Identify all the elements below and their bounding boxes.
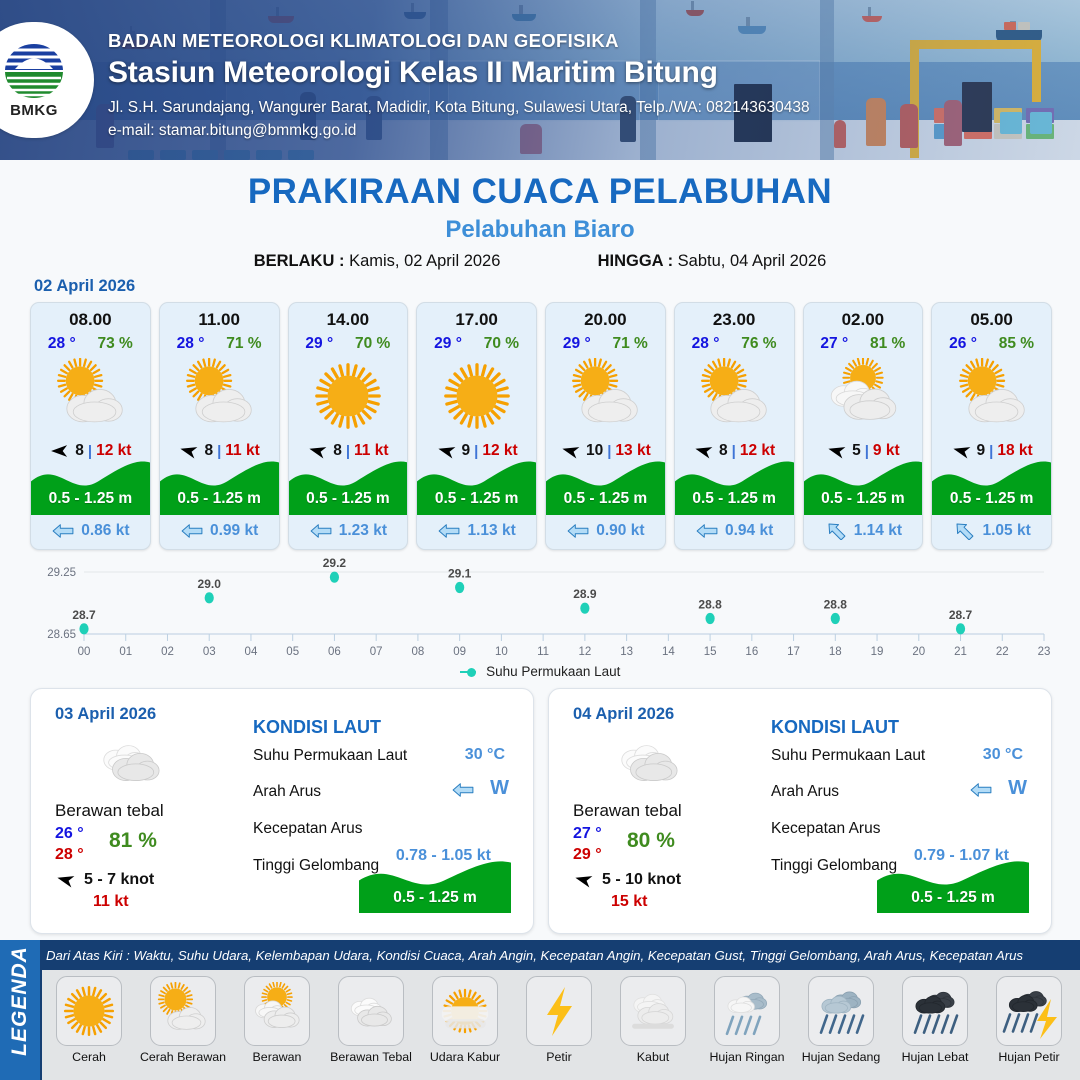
legend-item: Hujan Sedang [794, 970, 888, 1080]
daily-panel-row: 03 April 2026 Berawan tebal 26 ° 28 ° 81… [30, 688, 1052, 932]
card-temperature: 29 ° [434, 335, 462, 353]
daily-forecast-panel: 04 April 2026 Berawan tebal 27 ° 29 ° 80… [548, 688, 1052, 934]
card-wave-height: 0.5 - 1.25 m [546, 490, 665, 508]
card-time: 11.00 [160, 310, 279, 330]
svg-text:12: 12 [578, 646, 591, 658]
svg-text:01: 01 [119, 646, 132, 658]
panel-wind-row: 5 - 7 knot [55, 871, 154, 889]
card-wave-height: 0.5 - 1.25 m [417, 490, 536, 508]
card-current: 1.23 kt [289, 518, 408, 544]
weather-sun-cloud-icon [932, 357, 1051, 435]
sea-condition-title: KONDISI LAUT [253, 717, 381, 738]
current-direction-arrow-icon [824, 522, 848, 540]
forecast-card: 11.00 28 ° 71 % 8 | 11 kt 0.5 - 1.25 m 0… [159, 302, 280, 550]
svg-text:04: 04 [245, 646, 258, 658]
panel-temp-max: 28 ° [55, 846, 84, 864]
current-speed-label: Kecepatan Arus [253, 820, 362, 838]
card-wave-height: 0.5 - 1.25 m [675, 490, 794, 508]
svg-text:02: 02 [161, 646, 174, 658]
forecast-card: 20.00 29 ° 71 % 10 | 13 kt 0.5 - 1.25 m … [545, 302, 666, 550]
svg-text:28.65: 28.65 [47, 629, 76, 641]
weather-fog-icon [620, 976, 686, 1046]
panel-wind-row: 5 - 10 knot [573, 871, 681, 889]
card-temperature: 29 ° [305, 335, 333, 353]
page-title: PRAKIRAAN CUACA PELABUHAN [0, 172, 1080, 212]
card-current-speed: 0.86 kt [81, 522, 129, 540]
panel-wind: 5 - 7 knot [84, 871, 154, 889]
card-time: 05.00 [932, 310, 1051, 330]
weather-rain-heavy-icon [902, 976, 968, 1046]
weather-cloudy-icon [91, 733, 171, 791]
legend-item: Cerah [42, 970, 136, 1080]
sst-value: 30 °C [983, 746, 1023, 764]
svg-text:16: 16 [745, 646, 758, 658]
weather-sun-icon [417, 357, 536, 435]
card-humidity: 81 % [870, 335, 905, 353]
current-direction-arrow-icon [566, 522, 590, 540]
current-direction-arrow-icon [180, 522, 204, 540]
current-direction-value: W [1008, 777, 1027, 800]
svg-text:03: 03 [203, 646, 216, 658]
page-header: BMKG BADAN METEOROLOGI KLIMATOLOGI DAN G… [0, 0, 1080, 160]
card-time: 02.00 [804, 310, 923, 330]
legend-note: Dari Atas Kiri : Waktu, Suhu Udara, Kele… [46, 948, 1072, 963]
svg-text:06: 06 [328, 646, 341, 658]
chart-legend-label: Suhu Permukaan Laut [486, 664, 620, 679]
card-time: 08.00 [31, 310, 150, 330]
weather-rain-light-icon [714, 976, 780, 1046]
legend-item-label: Petir [546, 1050, 571, 1064]
svg-text:05: 05 [286, 646, 299, 658]
forecast-card: 23.00 28 ° 76 % 8 | 12 kt 0.5 - 1.25 m 0… [674, 302, 795, 550]
card-current: 0.86 kt [31, 518, 150, 544]
current-direction-arrow-icon [952, 522, 976, 540]
svg-text:28.7: 28.7 [72, 608, 96, 622]
legend-item-label: Hujan Ringan [709, 1050, 784, 1064]
card-current: 1.13 kt [417, 518, 536, 544]
card-current: 0.94 kt [675, 518, 794, 544]
weather-sun-icon [289, 357, 408, 435]
svg-text:13: 13 [620, 646, 633, 658]
svg-text:21: 21 [954, 646, 967, 658]
agency-name: BADAN METEOROLOGI KLIMATOLOGI DAN GEOFIS… [108, 30, 810, 52]
legend-item-label: Udara Kabur [430, 1050, 500, 1064]
card-temperature: 28 ° [177, 335, 205, 353]
legend-item: Berawan [230, 970, 324, 1080]
current-direction-arrow-icon [969, 781, 993, 804]
svg-text:28.9: 28.9 [573, 587, 597, 601]
legend-item: Kabut [606, 970, 700, 1080]
current-direction-arrow-icon [437, 522, 461, 540]
wind-direction-arrow-icon [573, 872, 595, 888]
card-current: 0.90 kt [546, 518, 665, 544]
svg-text:14: 14 [662, 646, 675, 658]
svg-text:08: 08 [412, 646, 425, 658]
legend-item: Cerah Berawan [136, 970, 230, 1080]
weather-haze-icon [432, 976, 498, 1046]
card-current-speed: 1.13 kt [467, 522, 515, 540]
card-wave-height: 0.5 - 1.25 m [31, 490, 150, 508]
card-current: 1.14 kt [804, 518, 923, 544]
svg-text:28.8: 28.8 [698, 598, 722, 612]
svg-text:15: 15 [704, 646, 717, 658]
chart-legend-marker [467, 668, 476, 677]
card-current: 0.99 kt [160, 518, 279, 544]
daily-forecast-panel: 03 April 2026 Berawan tebal 26 ° 28 ° 81… [30, 688, 534, 934]
legend-item: Hujan Petir [982, 970, 1076, 1080]
svg-text:23: 23 [1038, 646, 1051, 658]
validity-row: BERLAKU : Kamis, 02 April 2026 HINGGA : … [0, 252, 1080, 271]
station-email: e-mail: stamar.bitung@bmmkg.go.id [108, 122, 810, 140]
card-current: 1.05 kt [932, 518, 1051, 544]
card-wave-height: 0.5 - 1.25 m [932, 490, 1051, 508]
card-humidity: 71 % [226, 335, 261, 353]
svg-text:19: 19 [871, 646, 884, 658]
svg-text:18: 18 [829, 646, 842, 658]
current-direction-arrow-icon [695, 522, 719, 540]
legend-item-label: Berawan Tebal [330, 1050, 412, 1064]
legend-item-label: Hujan Lebat [902, 1050, 969, 1064]
card-humidity: 71 % [612, 335, 647, 353]
card-humidity: 85 % [999, 335, 1034, 353]
svg-text:29.1: 29.1 [448, 567, 472, 581]
svg-text:07: 07 [370, 646, 383, 658]
forecast-card: 08.00 28 ° 73 % 8 | 12 kt 0.5 - 1.25 m 0… [30, 302, 151, 550]
weather-sun-cloud-icon [150, 976, 216, 1046]
legend-item: Petir [512, 970, 606, 1080]
forecast-card-row: 08.00 28 ° 73 % 8 | 12 kt 0.5 - 1.25 m 0… [30, 302, 1052, 548]
legend-item-row: Cerah Cerah Berawan Berawan Berawan Teba… [42, 970, 1080, 1080]
svg-text:17: 17 [787, 646, 800, 658]
legend-item-label: Kabut [637, 1050, 669, 1064]
panel-condition: Berawan tebal [573, 801, 682, 821]
card-temperature: 29 ° [563, 335, 591, 353]
panel-wind: 5 - 10 knot [602, 871, 681, 889]
station-address: Jl. S.H. Sarundajang, Wangurer Barat, Ma… [108, 99, 810, 117]
page-subtitle: Pelabuhan Biaro [0, 216, 1080, 244]
legend-side-title: LEGENDA [8, 939, 32, 1063]
legend-item-label: Hujan Petir [998, 1050, 1059, 1064]
panel-gust: 11 kt [93, 893, 129, 911]
weather-sun-cloud-icon [546, 357, 665, 435]
svg-text:29.25: 29.25 [47, 567, 76, 579]
current-direction-label: Arah Arus [253, 783, 321, 801]
card-temperature: 27 ° [820, 335, 848, 353]
weather-sun-cloud-icon [675, 357, 794, 435]
chart-legend: Suhu Permukaan Laut [0, 664, 1080, 679]
sea-condition-title: KONDISI LAUT [771, 717, 899, 738]
svg-text:00: 00 [78, 646, 91, 658]
card-current-speed: 1.05 kt [982, 522, 1030, 540]
sst-value: 30 °C [465, 746, 505, 764]
panel-temp-min: 27 ° [573, 825, 602, 843]
legend-side-tab: LEGENDA [0, 940, 40, 1080]
card-wave-height: 0.5 - 1.25 m [289, 490, 408, 508]
current-direction-label: Arah Arus [771, 783, 839, 801]
card-wave-height: 0.5 - 1.25 m [804, 490, 923, 508]
svg-text:29.0: 29.0 [198, 577, 222, 591]
card-time: 17.00 [417, 310, 536, 330]
legend-bar: LEGENDA Dari Atas Kiri : Waktu, Suhu Uda… [0, 940, 1080, 1080]
card-humidity: 73 % [97, 335, 132, 353]
valid-from-label: BERLAKU : [254, 252, 345, 270]
weather-cloudy-icon [244, 976, 310, 1046]
card-time: 23.00 [675, 310, 794, 330]
forecast-card: 05.00 26 ° 85 % 9 | 18 kt 0.5 - 1.25 m 1… [931, 302, 1052, 550]
card-humidity: 70 % [484, 335, 519, 353]
current-speed-label: Kecepatan Arus [771, 820, 880, 838]
weather-cloud-thick-icon [338, 976, 404, 1046]
card-humidity: 76 % [741, 335, 776, 353]
forecast-card: 14.00 29 ° 70 % 8 | 11 kt 0.5 - 1.25 m 1… [288, 302, 409, 550]
valid-to-value: Sabtu, 04 April 2026 [678, 252, 827, 270]
svg-text:10: 10 [495, 646, 508, 658]
card-current-speed: 0.99 kt [210, 522, 258, 540]
bmkg-logo-icon [3, 42, 65, 100]
wind-direction-arrow-icon [55, 872, 77, 888]
legend-item-label: Hujan Sedang [802, 1050, 881, 1064]
panel-date: 03 April 2026 [55, 705, 156, 724]
weather-rain-thunder-icon [996, 976, 1062, 1046]
valid-to-label: HINGGA : [598, 252, 673, 270]
current-direction-arrow-icon [51, 522, 75, 540]
forecast-day-label: 02 April 2026 [34, 277, 135, 296]
station-name: Stasiun Meteorologi Kelas II Maritim Bit… [108, 56, 810, 90]
sst-label: Suhu Permukaan Laut [253, 747, 407, 765]
forecast-card: 17.00 29 ° 70 % 9 | 12 kt 0.5 - 1.25 m 1… [416, 302, 537, 550]
card-wave-height: 0.5 - 1.25 m [160, 490, 279, 508]
valid-from-value: Kamis, 02 April 2026 [349, 252, 500, 270]
panel-temp-min: 26 ° [55, 825, 84, 843]
panel-gust: 15 kt [611, 893, 647, 911]
current-direction-arrow-icon [309, 522, 333, 540]
svg-text:28.7: 28.7 [949, 608, 973, 622]
bmkg-logo-text: BMKG [10, 102, 58, 119]
weather-cloudy-icon [609, 733, 689, 791]
legend-item: Hujan Lebat [888, 970, 982, 1080]
svg-text:28.8: 28.8 [824, 598, 848, 612]
card-temperature: 28 ° [48, 335, 76, 353]
weather-lightning-icon [526, 976, 592, 1046]
card-temperature: 28 ° [692, 335, 720, 353]
legend-item-label: Berawan [253, 1050, 302, 1064]
svg-text:09: 09 [453, 646, 466, 658]
legend-item: Berawan Tebal [324, 970, 418, 1080]
legend-item: Hujan Ringan [700, 970, 794, 1080]
weather-sun-cloud-icon [31, 357, 150, 435]
legend-item-label: Cerah Berawan [140, 1050, 226, 1064]
weather-sun-icon [56, 976, 122, 1046]
sst-label: Suhu Permukaan Laut [771, 747, 925, 765]
weather-rain-moderate-icon [808, 976, 874, 1046]
wave-height-value: 0.5 - 1.25 m [877, 889, 1029, 907]
weather-sun-cloud-icon [160, 357, 279, 435]
svg-text:29.2: 29.2 [323, 556, 347, 570]
panel-humidity: 80 % [627, 829, 675, 853]
panel-condition: Berawan tebal [55, 801, 164, 821]
panel-temp-max: 29 ° [573, 846, 602, 864]
current-direction-arrow-icon [451, 781, 475, 804]
legend-item-label: Cerah [72, 1050, 106, 1064]
legend-item: Udara Kabur [418, 970, 512, 1080]
weather-cloudy-icon [804, 357, 923, 435]
panel-humidity: 81 % [109, 829, 157, 853]
current-direction-value: W [490, 777, 509, 800]
card-humidity: 70 % [355, 335, 390, 353]
card-temperature: 26 ° [949, 335, 977, 353]
card-time: 14.00 [289, 310, 408, 330]
panel-date: 04 April 2026 [573, 705, 674, 724]
card-current-speed: 0.94 kt [725, 522, 773, 540]
svg-text:11: 11 [537, 646, 549, 658]
card-current-speed: 0.90 kt [596, 522, 644, 540]
forecast-card: 02.00 27 ° 81 % 5 | 9 kt 0.5 - 1.25 m [803, 302, 924, 550]
svg-text:22: 22 [996, 646, 1009, 658]
wave-height-value: 0.5 - 1.25 m [359, 889, 511, 907]
card-current-speed: 1.14 kt [854, 522, 902, 540]
svg-text:20: 20 [912, 646, 925, 658]
card-current-speed: 1.23 kt [339, 522, 387, 540]
card-time: 20.00 [546, 310, 665, 330]
